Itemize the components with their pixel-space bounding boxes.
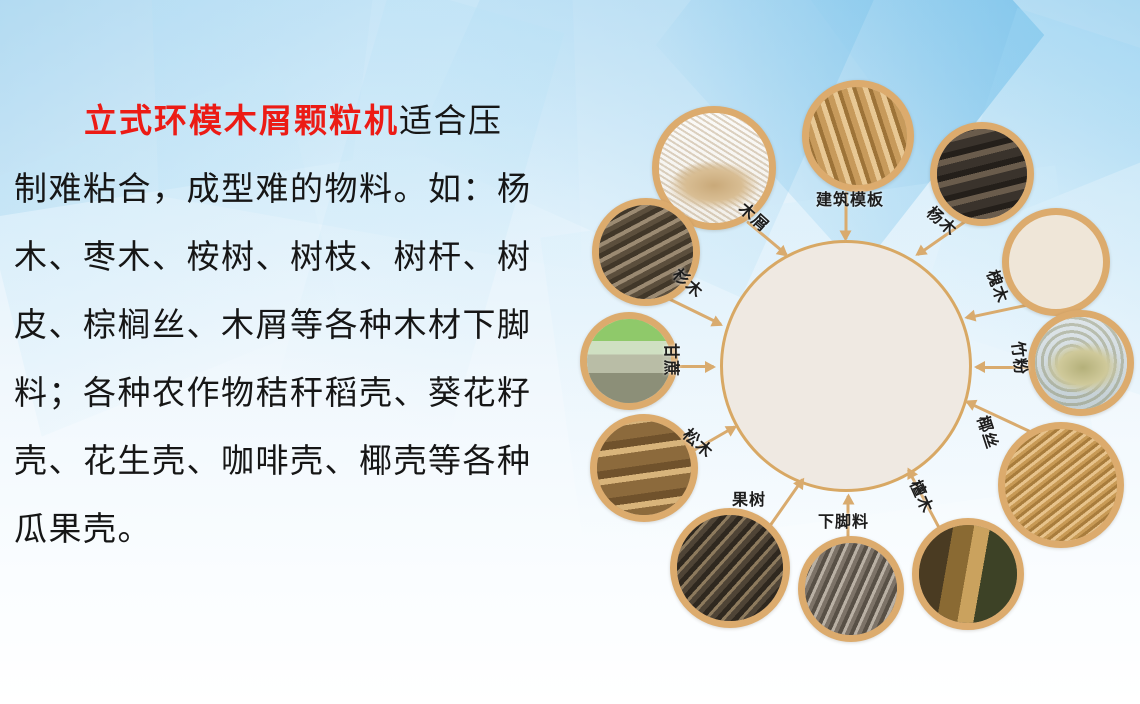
- headline-tail: 适合压: [399, 104, 503, 137]
- node-formwork[interactable]: [802, 80, 914, 192]
- label-sandalwood: 檀木: [905, 476, 941, 517]
- label-bamboo-powder: 竹粉: [1007, 340, 1034, 376]
- center-node-wood-pellets: [720, 240, 972, 492]
- body-line-3: 木、枣木、桉树、树枝、树杆、树: [0, 222, 600, 290]
- body-line-5: 料；各种农作物秸秆稻壳、葵花籽: [0, 358, 600, 426]
- pine-photo: [597, 421, 691, 515]
- sugarcane-photo: [587, 319, 671, 403]
- bamboo-powder-photo: [1035, 317, 1127, 409]
- locust-photo: [1009, 215, 1103, 309]
- label-scrap: 下脚料: [818, 508, 869, 532]
- label-formwork: 建筑模板: [816, 186, 884, 210]
- body-line-4: 皮、棕榈丝、木屑等各种木材下脚: [0, 290, 600, 358]
- formwork-photo: [809, 87, 907, 185]
- node-pine[interactable]: [590, 414, 698, 522]
- poplar-photo: [937, 129, 1027, 219]
- label-fruit-tree: 果树: [732, 486, 766, 510]
- description-text-block: 立式环模木屑颗粒机适合压 制难粘合，成型难的物料。如：杨 木、枣木、桉树、树枝、…: [0, 86, 600, 562]
- coconut-fiber-photo: [1005, 429, 1117, 541]
- headline-line: 立式环模木屑颗粒机适合压: [0, 86, 600, 154]
- product-name-highlight: 立式环模木屑颗粒机: [84, 104, 399, 137]
- scrap-photo: [805, 543, 897, 635]
- raw-material-radial-diagram: 木屑 建筑模板 杨木 槐木 竹粉 椰丝 檀木 下脚料 果树 松木 甘蔗 杉木: [590, 78, 1140, 678]
- node-scrap[interactable]: [798, 536, 904, 642]
- node-bamboo-powder[interactable]: [1028, 310, 1134, 416]
- body-line-6: 壳、花生壳、咖啡壳、椰壳等各种: [0, 426, 600, 494]
- fruit-tree-photo: [677, 515, 783, 621]
- sandalwood-photo: [919, 525, 1017, 623]
- body-line-2: 制难粘合，成型难的物料。如：杨: [0, 154, 600, 222]
- node-fruit-tree[interactable]: [670, 508, 790, 628]
- node-locust[interactable]: [1002, 208, 1110, 316]
- label-sugarcane: 甘蔗: [661, 343, 685, 377]
- body-line-7: 瓜果壳。: [0, 494, 600, 562]
- node-sandalwood[interactable]: [912, 518, 1024, 630]
- promotional-banner: 立式环模木屑颗粒机适合压 制难粘合，成型难的物料。如：杨 木、枣木、桉树、树枝、…: [0, 0, 1140, 704]
